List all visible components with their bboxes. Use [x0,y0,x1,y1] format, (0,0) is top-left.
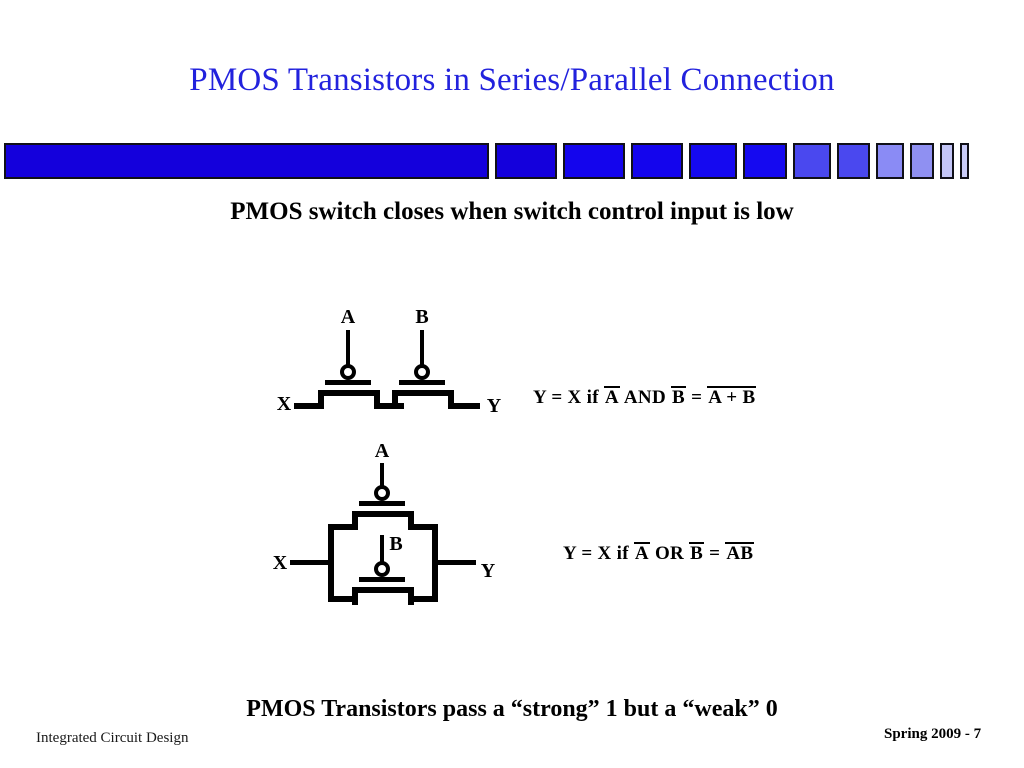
decorative-bar-block-8 [837,143,870,179]
series-b-right-lead [448,403,480,409]
decorative-bar-block-11 [940,143,954,179]
series-eq-result: A + B [707,386,756,408]
decorative-bar-block-9 [876,143,904,179]
parallel-circuit-diagram: A B X Y [270,435,520,630]
decorative-bar-block-7 [793,143,831,179]
series-gate-b-plate [399,380,445,385]
footer-slide-number: Spring 2009 - 7 [884,726,981,743]
series-channel-a [318,390,380,396]
parallel-gate-b-bubble [376,563,388,575]
parallel-channel-a [352,511,414,517]
series-eq-operator: AND [620,387,671,408]
parallel-input-lead [290,560,334,565]
parallel-eq-result: AB [725,542,754,564]
parallel-channel-b [352,587,414,593]
series-input-label: X [277,393,292,415]
parallel-eq-equals: = [704,543,725,564]
subtitle-text: PMOS switch closes when switch control i… [0,198,1024,226]
parallel-output-label: Y [481,560,496,582]
decorative-bar-block-5 [689,143,737,179]
parallel-eq-term-a: A [634,542,650,564]
series-circuit-diagram: A B X Y [270,300,520,430]
series-eq-term-b: B [671,386,686,408]
parallel-eq-term-b: B [689,542,704,564]
series-output-label: Y [487,395,502,417]
decorative-bar-block-4 [631,143,683,179]
series-gate-b-label: B [415,306,428,328]
series-b-left-lead [374,403,404,409]
decorative-bar-block-2 [495,143,557,179]
decorative-bar-block-12 [960,143,969,179]
series-gate-a-plate [325,380,371,385]
parallel-eq-operator: OR [650,543,689,564]
decorative-bar-block-6 [743,143,787,179]
page-title: PMOS Transistors in Series/Parallel Conn… [0,62,1024,99]
series-gate-a-label: A [341,306,356,328]
decorative-bar-block-10 [910,143,934,179]
parallel-equation: Y = X if A OR B = AB [563,542,754,565]
parallel-eq-prefix: Y = X if [563,543,634,564]
parallel-gate-b-plate [359,577,405,582]
parallel-b-right-lead [408,596,438,602]
parallel-gate-a-plate [359,501,405,506]
series-eq-prefix: Y = X if [533,387,604,408]
series-equation: Y = X if A AND B = A + B [533,386,756,409]
parallel-gate-a-label: A [375,440,390,462]
decorative-bar-block-3 [563,143,625,179]
parallel-input-label: X [273,552,288,574]
decorative-bar [4,143,1020,179]
bottom-note-text: PMOS Transistors pass a “strong” 1 but a… [0,696,1024,723]
series-gate-a-bubble [342,366,354,378]
parallel-gate-a-bubble [376,487,388,499]
series-eq-equals: = [686,387,707,408]
series-channel-b [392,390,454,396]
decorative-bar-block-1 [4,143,489,179]
parallel-b-left-lead [328,596,358,602]
footer-course-label: Integrated Circuit Design [36,730,188,747]
series-a-left-lead [294,403,324,409]
series-gate-b-bubble [416,366,428,378]
parallel-gate-b-label: B [389,533,402,555]
parallel-output-lead [432,560,476,565]
series-eq-term-a: A [604,386,620,408]
